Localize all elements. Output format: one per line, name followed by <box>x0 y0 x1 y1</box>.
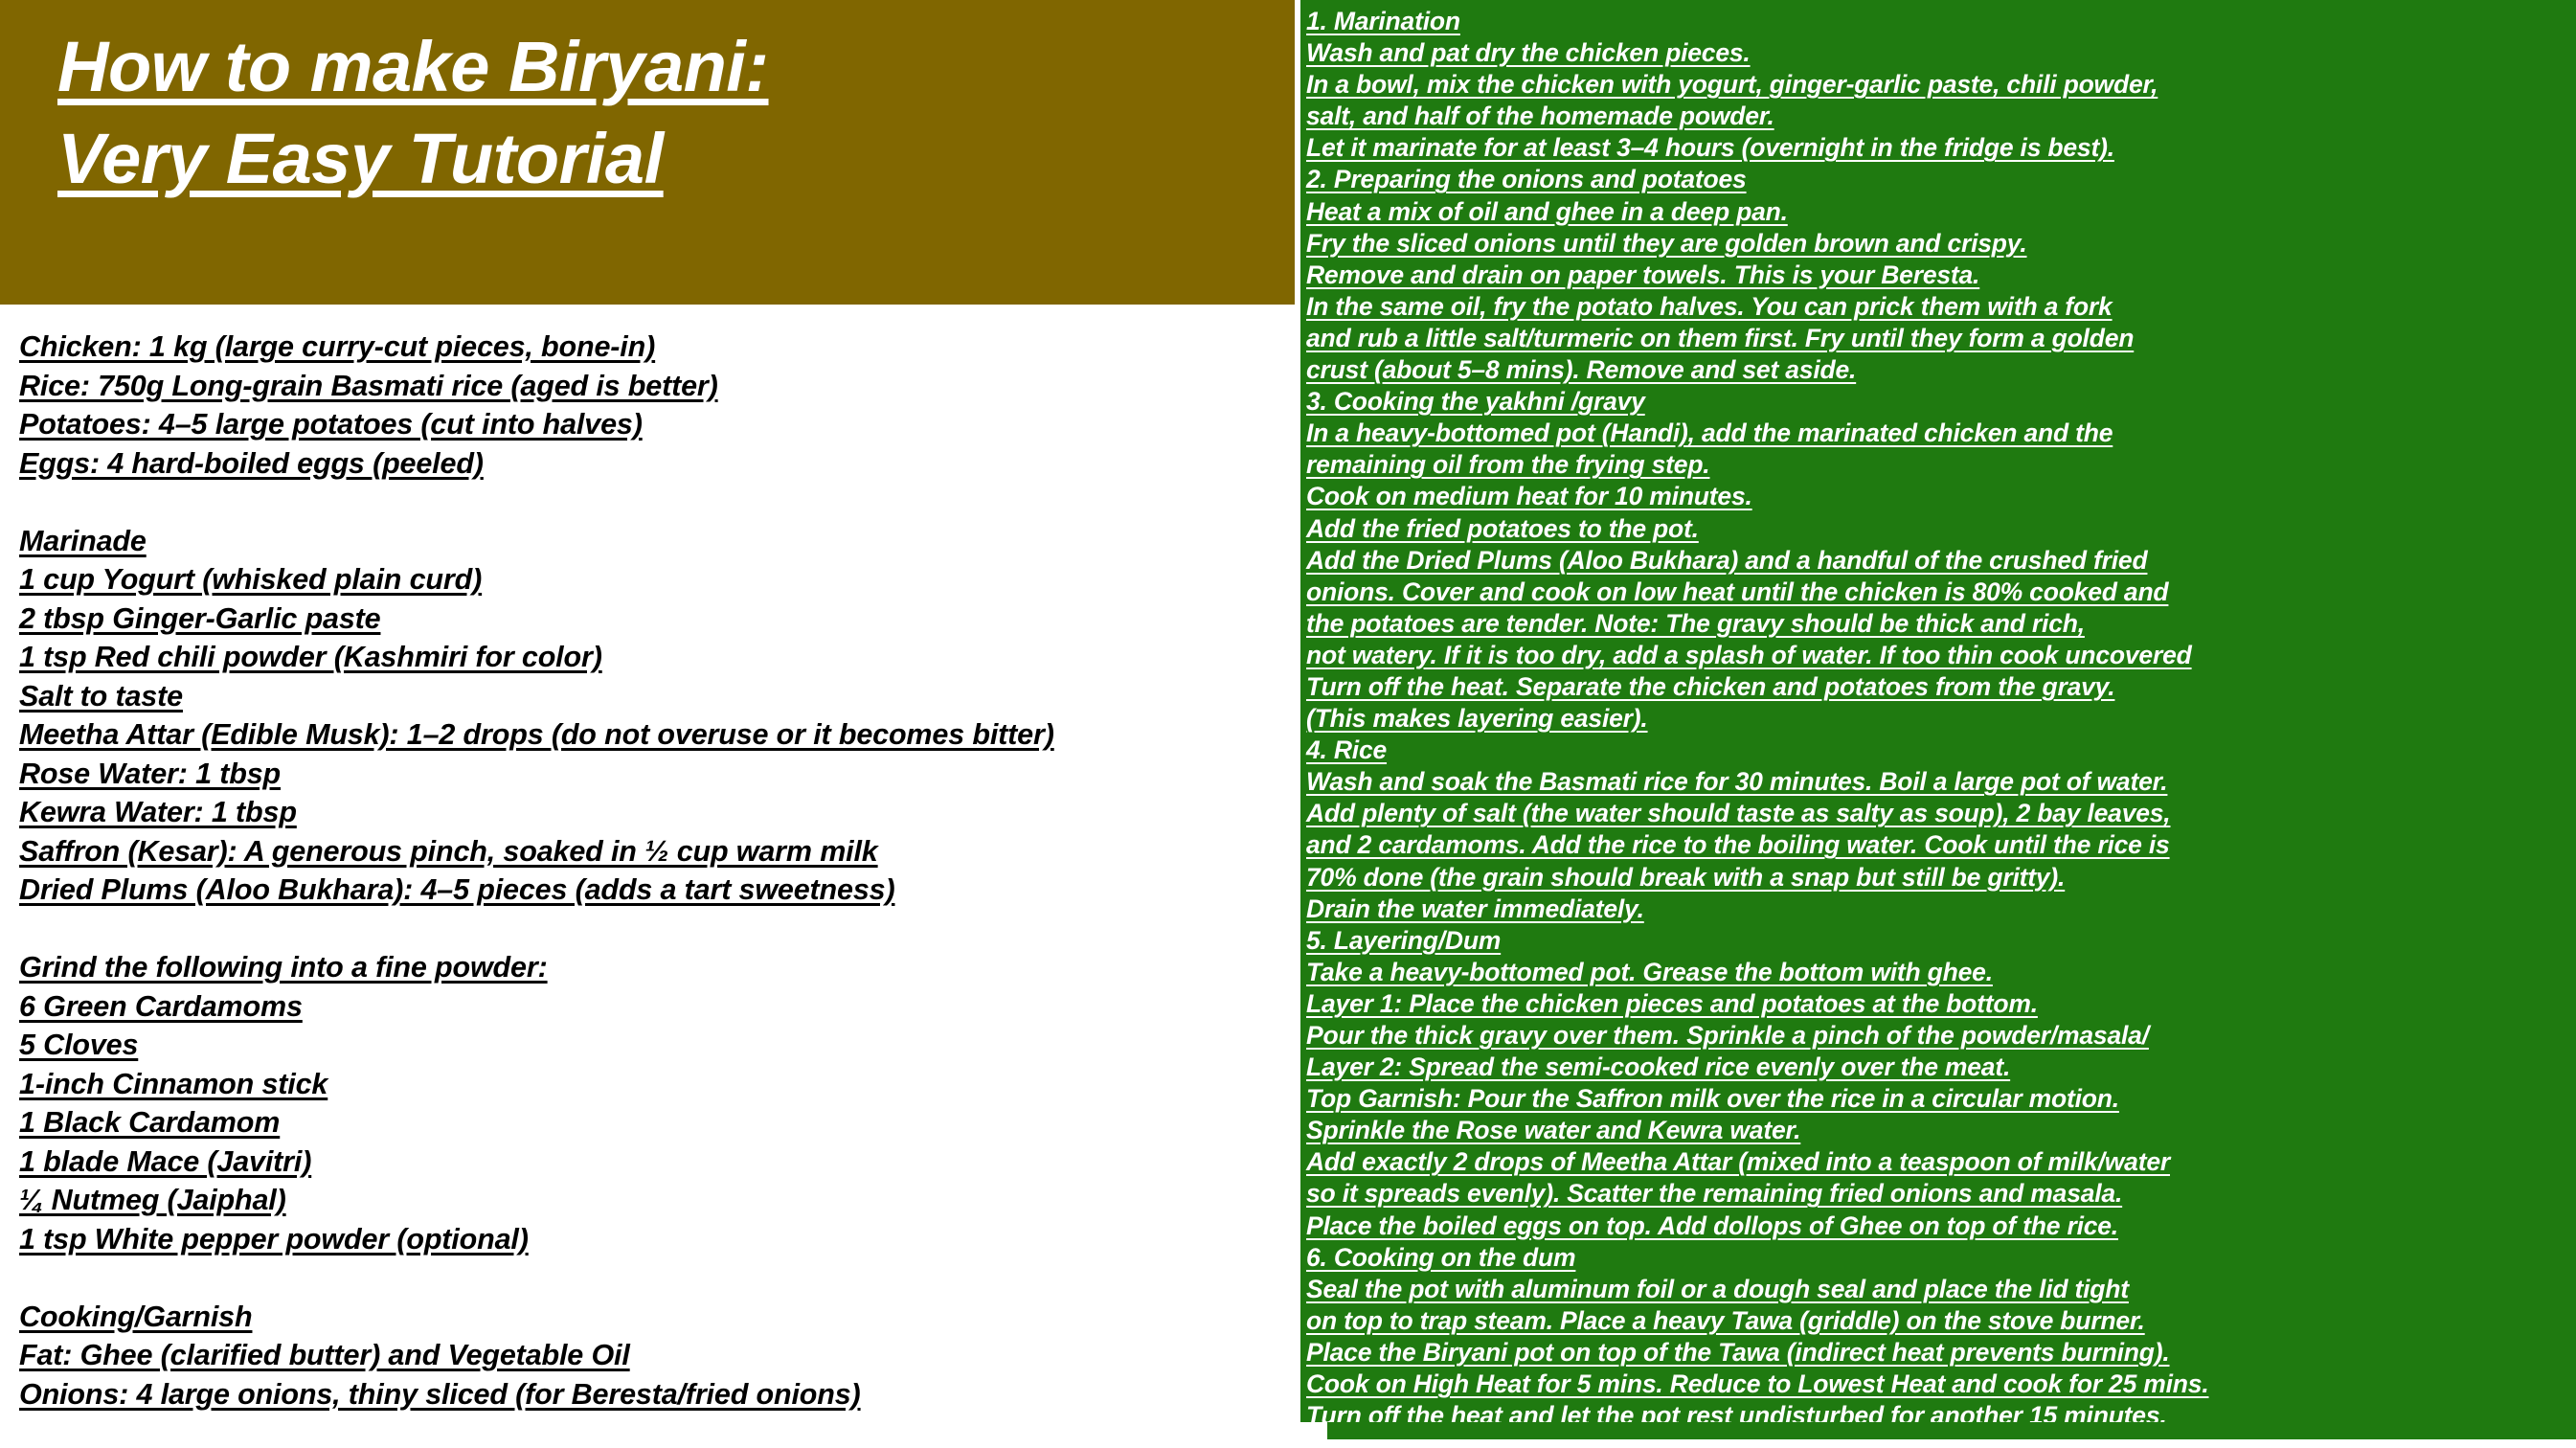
method-line-24: Wash and soak the Basmati rice for 30 mi… <box>1306 766 2576 798</box>
ingredient-line-text: Grind the following into a fine powder: <box>19 951 548 984</box>
ingredient-line-13: Saffron (Kesar): A generous pinch, soake… <box>19 832 1295 871</box>
method-line-text: on top to trap steam. Place a heavy Tawa… <box>1306 1306 2145 1335</box>
method-line-text: Take a heavy-bottomed pot. Grease the bo… <box>1306 958 1993 986</box>
method-line-text: Place the boiled eggs on top. Add dollop… <box>1306 1211 2118 1240</box>
ingredient-line-22: ¼ Nutmeg (Jaiphal) <box>19 1181 1295 1220</box>
method-line-text: Layer 2: Spread the semi-cooked rice eve… <box>1306 1052 2010 1081</box>
method-line-30: Take a heavy-bottomed pot. Grease the bo… <box>1306 957 2576 988</box>
method-line-35: Sprinkle the Rose water and Kewra water. <box>1306 1115 2576 1146</box>
method-line-text: Let it marinate for at least 3–4 hours (… <box>1306 133 2114 162</box>
method-line-36: Add exactly 2 drops of Meetha Attar (mix… <box>1306 1146 2576 1178</box>
ingredient-line-text: Meetha Attar (Edible Musk): 1–2 drops (d… <box>19 718 1054 751</box>
ingredient-line-text: Salt to taste <box>19 680 183 713</box>
method-line-text: Cook on High Heat for 5 mins. Reduce to … <box>1306 1369 2209 1398</box>
method-line-text: crust (about 5–8 mins). Remove and set a… <box>1306 355 1856 384</box>
method-line-2: In a bowl, mix the chicken with yogurt, … <box>1306 69 2576 101</box>
method-line-14: remaining oil from the frying step. <box>1306 449 2576 481</box>
method-line-20: not watery. If it is too dry, add a spla… <box>1306 640 2576 671</box>
method-line-text: Top Garnish: Pour the Saffron milk over … <box>1306 1084 2119 1113</box>
method-line-5: 2. Preparing the onions and potatoes <box>1306 164 2576 195</box>
method-line-text: 70% done (the grain should break with a … <box>1306 863 2065 892</box>
ingredient-line-9: Salt to taste <box>19 677 1295 716</box>
title-line-2: Very Easy Tutorial <box>57 113 1295 205</box>
ingredient-line-text: Rose Water: 1 tbsp <box>19 758 281 790</box>
ingredient-line-7: 2 tbsp Ginger-Garlic paste <box>19 600 1295 639</box>
method-line-40: Seal the pot with aluminum foil or a dou… <box>1306 1274 2576 1305</box>
method-line-text: Turn off the heat and let the pot rest u… <box>1306 1401 2167 1422</box>
method-line-text: Fry the sliced onions until they are gol… <box>1306 229 2027 258</box>
method-line-21: Turn off the heat. Separate the chicken … <box>1306 671 2576 703</box>
ingredient-line-15 <box>19 910 1295 949</box>
ingredient-line-2: Potatoes: 4–5 large potatoes (cut into h… <box>19 405 1295 444</box>
ingredient-line-5: Marinade <box>19 522 1295 561</box>
method-line-12: 3. Cooking the yakhni /gravy <box>1306 386 2576 418</box>
ingredient-line-12: Kewra Water: 1 tbsp <box>19 793 1295 832</box>
ingredient-line-24 <box>19 1258 1295 1298</box>
method-line-text: 1. Marination <box>1306 7 1460 35</box>
ingredient-line-16: Grind the following into a fine powder: <box>19 948 1295 987</box>
method-line-37: so it spreads evenly). Scatter the remai… <box>1306 1178 2576 1210</box>
ingredient-line-25: Cooking/Garnish <box>19 1298 1295 1337</box>
ingredient-line-text: 5 Cloves <box>19 1029 138 1061</box>
method-line-27: 70% done (the grain should break with a … <box>1306 862 2576 894</box>
method-line-text: the potatoes are tender. Note: The gravy… <box>1306 609 2085 638</box>
ingredient-line-8: 1 tsp Red chili powder (Kashmiri for col… <box>19 638 1295 677</box>
ingredient-line-10: Meetha Attar (Edible Musk): 1–2 drops (d… <box>19 715 1295 755</box>
method-line-text: Add exactly 2 drops of Meetha Attar (mix… <box>1306 1147 2170 1176</box>
method-line-18: onions. Cover and cook on low heat until… <box>1306 577 2576 608</box>
method-line-text: In a heavy-bottomed pot (Handi), add the… <box>1306 419 2113 447</box>
method-line-text: In a bowl, mix the chicken with yogurt, … <box>1306 70 2158 99</box>
ingredient-line-text: Potatoes: 4–5 large potatoes (cut into h… <box>19 408 643 441</box>
method-line-text: remaining oil from the frying step. <box>1306 450 1709 479</box>
method-line-28: Drain the water immediately. <box>1306 894 2576 925</box>
ingredient-line-text: Kewra Water: 1 tbsp <box>19 796 297 828</box>
method-line-17: Add the Dried Plums (Aloo Bukhara) and a… <box>1306 545 2576 577</box>
method-line-41: on top to trap steam. Place a heavy Tawa… <box>1306 1305 2576 1337</box>
method-line-23: 4. Rice <box>1306 735 2576 766</box>
method-line-text: Heat a mix of oil and ghee in a deep pan… <box>1306 197 1788 226</box>
method-line-32: Pour the thick gravy over them. Sprinkle… <box>1306 1020 2576 1052</box>
method-line-text: 3. Cooking the yakhni /gravy <box>1306 387 1645 416</box>
ingredients-list: Chicken: 1 kg (large curry-cut pieces, b… <box>0 305 1295 1414</box>
method-line-text: Wash and soak the Basmati rice for 30 mi… <box>1306 767 2167 796</box>
ingredient-line-23: 1 tsp White pepper powder (optional) <box>19 1220 1295 1259</box>
method-line-text: Drain the water immediately. <box>1306 894 1644 923</box>
method-line-11: crust (about 5–8 mins). Remove and set a… <box>1306 354 2576 386</box>
ingredient-line-text: Rice: 750g Long-grain Basmati rice (aged… <box>19 370 718 402</box>
method-line-text: not watery. If it is too dry, add a spla… <box>1306 641 2192 669</box>
method-line-text: 2. Preparing the onions and potatoes <box>1306 165 1747 193</box>
ingredient-line-text <box>19 486 27 518</box>
method-line-text: and 2 cardamoms. Add the rice to the boi… <box>1306 830 2170 859</box>
ingredient-line-text: 2 tbsp Ginger-Garlic paste <box>19 602 380 635</box>
method-line-text: Seal the pot with aluminum foil or a dou… <box>1306 1275 2129 1303</box>
ingredient-line-text: Eggs: 4 hard-boiled eggs (peeled) <box>19 447 484 480</box>
ingredient-line-27: Onions: 4 large onions, thiny sliced (fo… <box>19 1375 1295 1414</box>
method-line-44: Turn off the heat and let the pot rest u… <box>1306 1400 2576 1422</box>
ingredient-line-text: Saffron (Kesar): A generous pinch, soake… <box>19 835 878 868</box>
ingredient-line-19: 1-inch Cinnamon stick <box>19 1065 1295 1104</box>
method-line-text: Wash and pat dry the chicken pieces. <box>1306 38 1751 67</box>
method-line-6: Heat a mix of oil and ghee in a deep pan… <box>1306 196 2576 228</box>
method-line-text: 6. Cooking on the dum <box>1306 1243 1575 1272</box>
method-line-text: Add the Dried Plums (Aloo Bukhara) and a… <box>1306 546 2147 575</box>
method-line-3: salt, and half of the homemade powder. <box>1306 101 2576 132</box>
ingredient-line-text: Chicken: 1 kg (large curry-cut pieces, b… <box>19 330 655 363</box>
ingredient-line-text <box>19 913 27 945</box>
method-line-text: Place the Biryani pot on top of the Tawa… <box>1306 1338 2170 1367</box>
method-line-text: Cook on medium heat for 10 minutes. <box>1306 482 1752 510</box>
method-line-34: Top Garnish: Pour the Saffron milk over … <box>1306 1083 2576 1115</box>
ingredient-line-26: Fat: Ghee (clarified butter) and Vegetab… <box>19 1336 1295 1375</box>
method-line-8: Remove and drain on paper towels. This i… <box>1306 260 2576 291</box>
method-line-25: Add plenty of salt (the water should tas… <box>1306 798 2576 829</box>
ingredient-line-text: 1 tsp White pepper powder (optional) <box>19 1223 529 1256</box>
method-line-text: Layer 1: Place the chicken pieces and po… <box>1306 989 2038 1018</box>
method-line-text: 5. Layering/Dum <box>1306 926 1501 955</box>
method-line-text: Add the fried potatoes to the pot. <box>1306 514 1699 543</box>
method-line-7: Fry the sliced onions until they are gol… <box>1306 228 2576 260</box>
method-line-text: so it spreads evenly). Scatter the remai… <box>1306 1179 2122 1208</box>
recipe-poster: How to make Biryani: Very Easy Tutorial … <box>0 0 2576 1448</box>
ingredient-line-text: 1 cup Yogurt (whisked plain curd) <box>19 563 482 596</box>
method-line-26: and 2 cardamoms. Add the rice to the boi… <box>1306 829 2576 861</box>
method-line-0: 1. Marination <box>1306 6 2576 37</box>
method-line-text: Add plenty of salt (the water should tas… <box>1306 799 2170 827</box>
method-line-22: (This makes layering easier). <box>1306 703 2576 735</box>
ingredient-line-17: 6 Green Cardamoms <box>19 987 1295 1027</box>
method-line-text: In the same oil, fry the potato halves. … <box>1306 292 2113 321</box>
ingredient-line-18: 5 Cloves <box>19 1026 1295 1065</box>
method-line-33: Layer 2: Spread the semi-cooked rice eve… <box>1306 1052 2576 1083</box>
method-line-9: In the same oil, fry the potato halves. … <box>1306 291 2576 323</box>
method-line-text: 4. Rice <box>1306 735 1387 764</box>
ingredient-line-text: 1 blade Mace (Javitri) <box>19 1145 311 1178</box>
method-panel: 1. MarinationWash and pat dry the chicke… <box>1300 0 2576 1422</box>
method-line-text: Sprinkle the Rose water and Kewra water. <box>1306 1116 1800 1144</box>
title-banner: How to make Biryani: Very Easy Tutorial <box>0 0 1295 305</box>
ingredient-line-text: 1-inch Cinnamon stick <box>19 1068 328 1100</box>
ingredient-line-text: Fat: Ghee (clarified butter) and Vegetab… <box>19 1339 630 1371</box>
ingredient-line-0: Chicken: 1 kg (large curry-cut pieces, b… <box>19 328 1295 367</box>
ingredient-line-20: 1 Black Cardamom <box>19 1103 1295 1143</box>
ingredient-line-1: Rice: 750g Long-grain Basmati rice (aged… <box>19 367 1295 406</box>
method-line-text: Remove and drain on paper towels. This i… <box>1306 260 1979 289</box>
ingredients-column: How to make Biryani: Very Easy Tutorial … <box>0 0 1295 1448</box>
method-line-31: Layer 1: Place the chicken pieces and po… <box>1306 988 2576 1020</box>
method-line-10: and rub a little salt/turmeric on them f… <box>1306 323 2576 354</box>
method-line-text: Pour the thick gravy over them. Sprinkle… <box>1306 1021 2149 1050</box>
title-line-1: How to make Biryani: <box>57 21 1295 113</box>
method-line-text: (This makes layering easier). <box>1306 704 1648 733</box>
method-line-text: onions. Cover and cook on low heat until… <box>1306 577 2168 606</box>
method-line-19: the potatoes are tender. Note: The gravy… <box>1306 608 2576 640</box>
method-line-15: Cook on medium heat for 10 minutes. <box>1306 481 2576 512</box>
ingredient-line-text <box>19 1261 27 1294</box>
ingredient-line-text: Marinade <box>19 525 147 557</box>
ingredient-line-text: 1 Black Cardamom <box>19 1106 280 1139</box>
method-panel-foot <box>1327 1422 2576 1439</box>
method-line-text: Turn off the heat. Separate the chicken … <box>1306 672 2114 701</box>
ingredient-line-21: 1 blade Mace (Javitri) <box>19 1143 1295 1182</box>
ingredient-line-text: 1 tsp Red chili powder (Kashmiri for col… <box>19 641 602 673</box>
ingredient-line-text: 6 Green Cardamoms <box>19 990 303 1023</box>
method-line-39: 6. Cooking on the dum <box>1306 1242 2576 1274</box>
ingredient-line-text: Dried Plums (Aloo Bukhara): 4–5 pieces (… <box>19 873 894 906</box>
ingredient-line-text: Onions: 4 large onions, thiny sliced (fo… <box>19 1378 861 1411</box>
ingredient-line-14: Dried Plums (Aloo Bukhara): 4–5 pieces (… <box>19 871 1295 910</box>
method-line-text: and rub a little salt/turmeric on them f… <box>1306 324 2134 352</box>
method-line-38: Place the boiled eggs on top. Add dollop… <box>1306 1210 2576 1242</box>
ingredient-line-text: Cooking/Garnish <box>19 1301 252 1333</box>
method-line-4: Let it marinate for at least 3–4 hours (… <box>1306 132 2576 164</box>
method-line-1: Wash and pat dry the chicken pieces. <box>1306 37 2576 69</box>
method-line-29: 5. Layering/Dum <box>1306 925 2576 957</box>
method-line-43: Cook on High Heat for 5 mins. Reduce to … <box>1306 1369 2576 1400</box>
method-line-text: salt, and half of the homemade powder. <box>1306 102 1774 130</box>
ingredient-line-11: Rose Water: 1 tbsp <box>19 755 1295 794</box>
ingredient-line-4 <box>19 483 1295 522</box>
ingredient-line-text: ¼ Nutmeg (Jaiphal) <box>19 1184 286 1216</box>
ingredient-line-6: 1 cup Yogurt (whisked plain curd) <box>19 560 1295 600</box>
method-line-42: Place the Biryani pot on top of the Tawa… <box>1306 1337 2576 1369</box>
method-line-13: In a heavy-bottomed pot (Handi), add the… <box>1306 418 2576 449</box>
ingredient-line-3: Eggs: 4 hard-boiled eggs (peeled) <box>19 444 1295 484</box>
method-panel-notch <box>1300 1422 1327 1448</box>
method-line-16: Add the fried potatoes to the pot. <box>1306 513 2576 545</box>
